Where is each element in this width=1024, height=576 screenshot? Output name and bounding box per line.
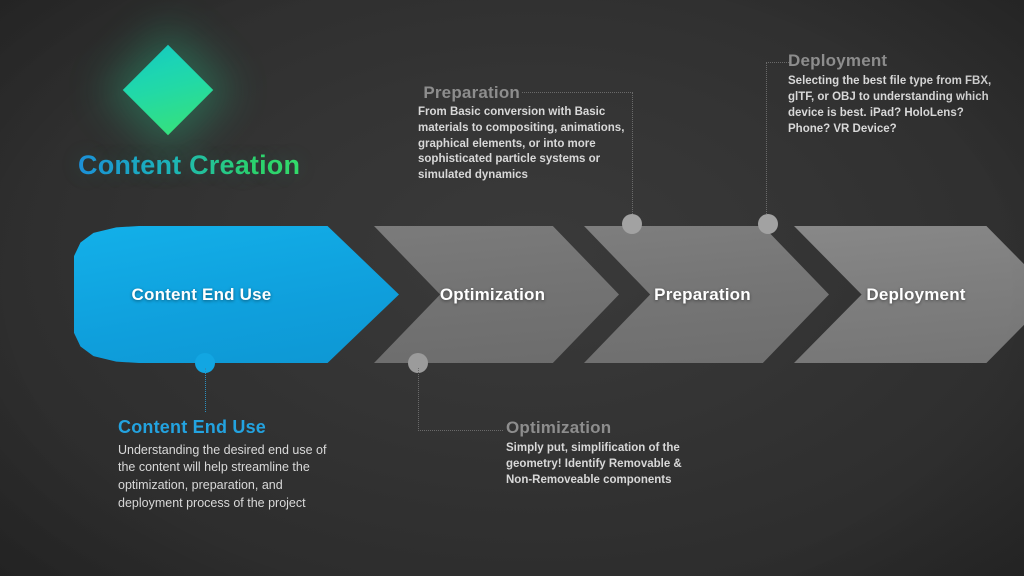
callout-optimization: Optimization Simply put, simplification … [506, 418, 702, 489]
connector-dot-preparation [622, 214, 642, 234]
callout-optimization-body: Simply put, simplification of the geomet… [506, 441, 702, 488]
callout-optimization-title: Optimization [506, 418, 702, 438]
callout-preparation-title: Preparation [388, 83, 520, 103]
process-step-optimization-label: Optimization [374, 285, 619, 305]
connector-content-end-use [205, 368, 206, 412]
process-chevron-bar: Content End Use Optimization Preparation… [74, 226, 954, 363]
process-step-preparation[interactable]: Preparation [584, 226, 829, 363]
process-step-content-end-use-label: Content End Use [74, 285, 399, 305]
diamond-icon [123, 45, 214, 136]
brand-title: Content Creation [78, 150, 300, 181]
callout-preparation-body: From Basic conversion with Basic materia… [418, 105, 636, 184]
connector-dot-content-end-use [195, 353, 215, 373]
connector-optimization [418, 368, 503, 431]
process-step-preparation-label: Preparation [584, 285, 829, 305]
callout-content-end-use-title: Content End Use [118, 417, 336, 439]
callout-deployment-body: Selecting the best file type from FBX, g… [788, 74, 1004, 137]
process-step-content-end-use[interactable]: Content End Use [74, 226, 399, 363]
slide-canvas: Content Creation Preparation From Basic … [0, 0, 1024, 576]
connector-dot-deployment [758, 214, 778, 234]
callout-deployment: Deployment Selecting the best file type … [788, 51, 1004, 137]
callout-preparation-body-wrap: From Basic conversion with Basic materia… [418, 105, 636, 184]
callout-preparation: Preparation [388, 83, 520, 106]
connector-deployment [766, 62, 789, 224]
process-step-optimization[interactable]: Optimization [374, 226, 619, 363]
callout-content-end-use-body: Understanding the desired end use of the… [118, 442, 336, 513]
callout-deployment-title: Deployment [788, 51, 1004, 71]
callout-content-end-use: Content End Use Understanding the desire… [118, 417, 336, 513]
